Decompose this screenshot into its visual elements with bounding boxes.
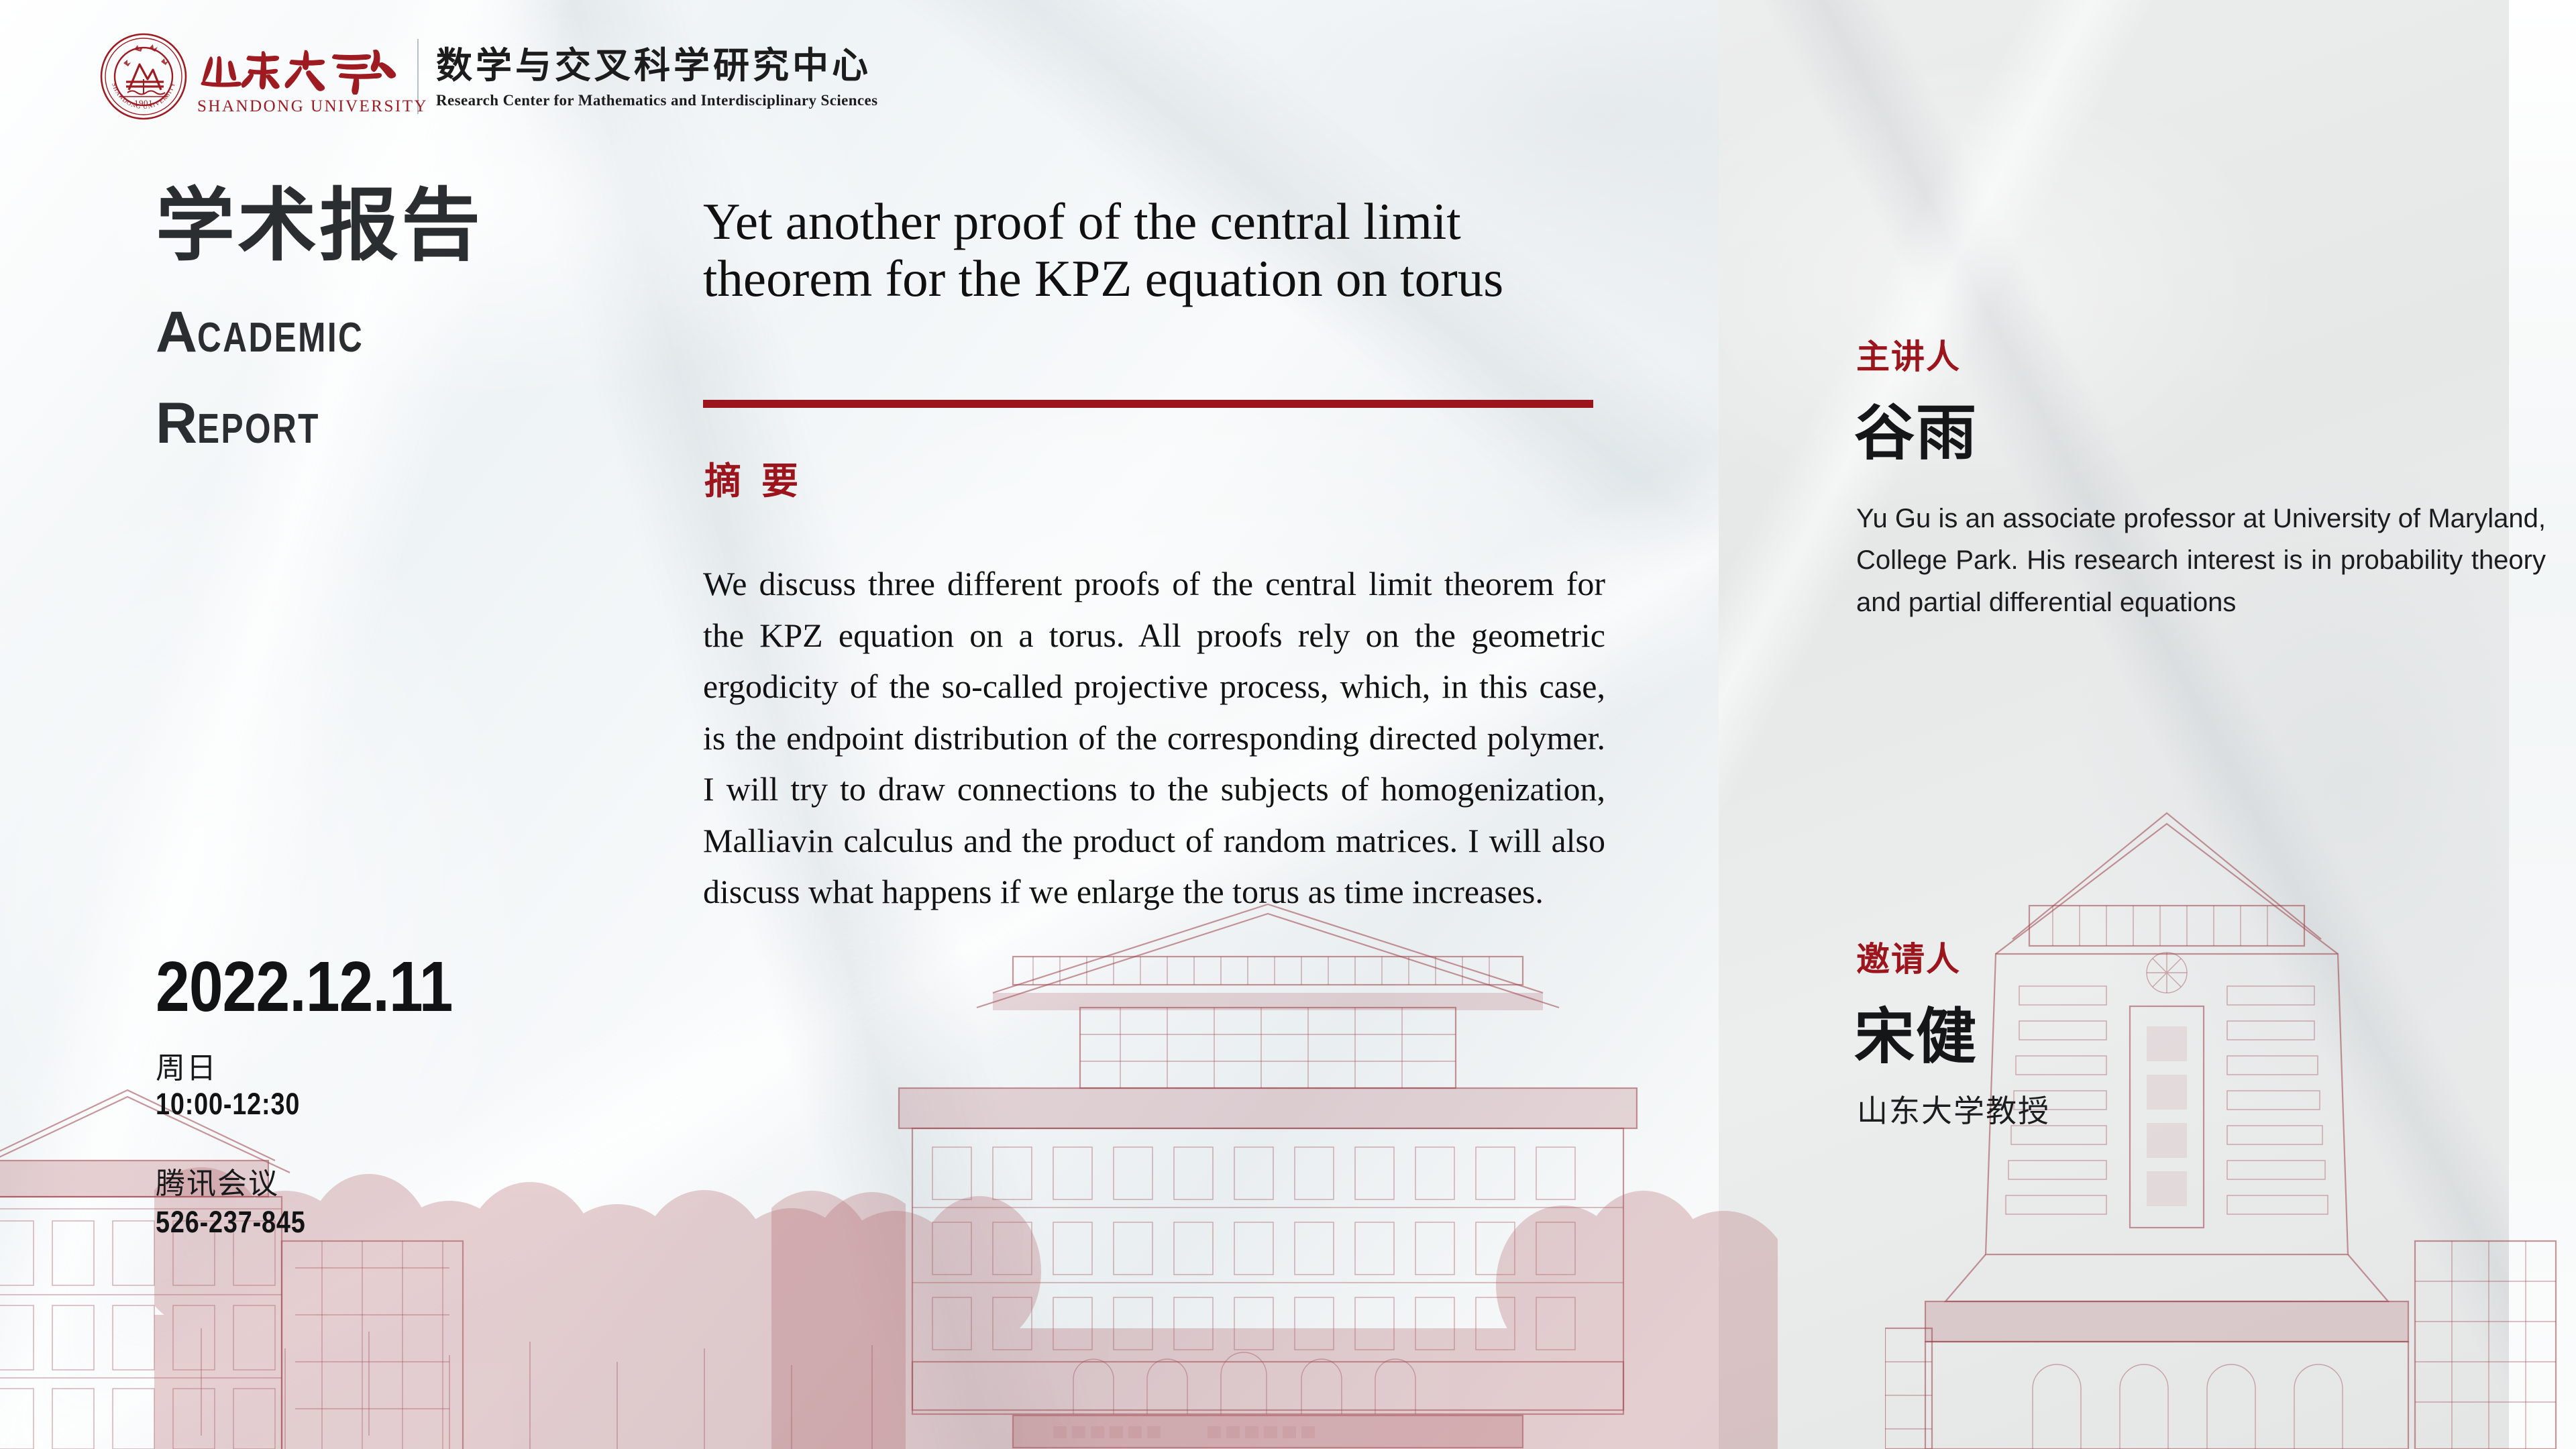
meeting-platform: 腾讯会议 [156, 1167, 501, 1200]
far-right-light-strip [2509, 0, 2576, 1449]
event-weekday: 周日 [156, 1052, 501, 1085]
talk-title: Yet another proof of the central limit t… [703, 193, 1605, 307]
report-cap-letter: R [156, 391, 197, 455]
poster-canvas: 1901 SHANDONG UNIVERSITY [0, 0, 2576, 1449]
left-column: 学术报告 ACADEMIC REPORT 2022.12.11 周日 10:00… [0, 0, 678, 1449]
poster-heading-en-academic: ACADEMIC [156, 303, 405, 361]
center-column: Yet another proof of the central limit t… [703, 0, 1605, 1449]
inviter-affiliation: 山东大学教授 [1857, 1087, 2050, 1131]
abstract-label: 摘要 [704, 451, 818, 504]
right-column: 主讲人 谷雨 Yu Gu is an associate professor a… [1719, 0, 2509, 1449]
event-time: 10:00-12:30 [156, 1087, 501, 1121]
title-underline-rule [703, 400, 1593, 408]
poster-heading-cn: 学术报告 [156, 186, 483, 266]
speaker-name: 谷雨 [1854, 384, 1978, 471]
speaker-label: 主讲人 [1856, 330, 1961, 378]
event-date: 2022.12.11 [156, 951, 501, 1022]
inviter-label: 邀请人 [1856, 932, 1961, 981]
abstract-body: We discuss three different proofs of the… [703, 558, 1605, 918]
academic-cap-letter: A [156, 300, 197, 364]
event-time-group: 周日 10:00-12:30 [156, 1052, 501, 1122]
meeting-group: 腾讯会议 526-237-845 [156, 1167, 501, 1240]
meeting-id: 526-237-845 [156, 1205, 501, 1239]
academic-rest-letters: CADEMIC [197, 317, 364, 359]
speaker-bio: Yu Gu is an associate professor at Unive… [1856, 498, 2546, 623]
event-details-block: 2022.12.11 周日 10:00-12:30 腾讯会议 526-237-8… [156, 951, 501, 1239]
inviter-name: 宋健 [1854, 987, 1978, 1075]
poster-heading-en-report: REPORT [156, 394, 351, 452]
report-rest-letters: EPORT [197, 409, 320, 450]
